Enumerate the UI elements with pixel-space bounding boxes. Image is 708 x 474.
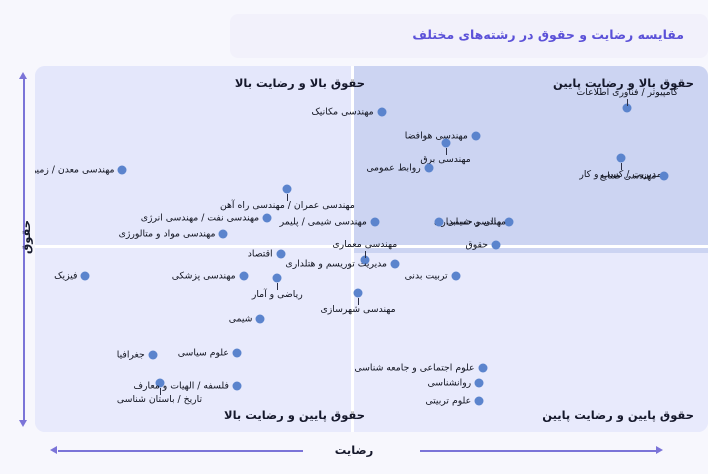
scatter-point[interactable] [391,259,400,268]
x-axis-label: رضایت [0,443,708,457]
quadrant-label-top-right: حقوق بالا و رضایت بالا [235,76,365,92]
scatter-point[interactable] [239,272,248,281]
label-leader-line [365,251,366,258]
chart-root: مقایسه رضایت و حقوق در رشته‌های مختلف حق… [0,0,708,474]
scatter-point[interactable] [492,241,501,250]
scatter-point-label: علوم اجتماعی و جامعه شناسی [354,363,474,372]
scatter-point-label: شیمی [229,314,253,323]
scatter-point-label: مهندسی برق [420,155,470,164]
y-axis-arrow-down-icon [19,420,27,427]
scatter-point-label: مهندسی شهرسازی [321,305,396,314]
scatter-point[interactable] [475,396,484,405]
scatter-point[interactable] [256,314,265,323]
scatter-point-label: روانشناسی [428,378,472,387]
plot-area: حقوق بالا و رضایت پایین حقوق بالا و رضای… [35,66,708,432]
scatter-point-label: کامپیوتر / فناوری اطلاعات [577,88,678,97]
scatter-point-label: مهندسی مکانیک [311,107,373,116]
scatter-point[interactable] [377,107,386,116]
scatter-point[interactable] [276,250,285,259]
scatter-point[interactable] [478,363,487,372]
scatter-point[interactable] [263,213,272,222]
scatter-point-label: مهندسی صنایع [600,171,657,180]
scatter-point[interactable] [434,217,443,226]
page-title: مقایسه رضایت و حقوق در رشته‌های مختلف [412,27,684,42]
scatter-point-label: مهندسی معماری [332,240,397,249]
scatter-point[interactable] [505,217,514,226]
scatter-point-label: علوم تربیتی [425,396,471,405]
scatter-point[interactable] [660,171,669,180]
scatter-point[interactable] [219,230,228,239]
scatter-point-label: مهندسی معدن / زمین شناسی [35,166,114,175]
scatter-point[interactable] [354,288,363,297]
scatter-point-label: تاریخ / باستان شناسی [117,395,202,404]
scatter-point[interactable] [370,217,379,226]
scatter-point-label: مهندسی هوافضا [405,131,468,140]
quadrant-label-bottom-right: حقوق پایین و رضایت بالا [224,408,365,422]
scatter-point[interactable] [148,351,157,360]
scatter-point-label: اقتصاد [248,250,273,259]
scatter-point[interactable] [475,378,484,387]
scatter-point[interactable] [441,138,450,147]
scatter-point-label: حقوق [466,241,488,250]
scatter-point[interactable] [451,272,460,281]
quadrant-label-bottom-left: حقوق پایین و رضایت پایین [542,408,694,422]
scatter-point-label: مهندسی شیمی / پلیمر [280,217,367,226]
scatter-point-label: مهندسی نفت / مهندسی انرژی [141,213,259,222]
scatter-point-label: مهندسی مواد و متالورژی [119,230,216,239]
scatter-point-label: جغرافیا [117,350,145,359]
scatter-point-label: مهندسی پزشکی [172,272,236,281]
scatter-point[interactable] [424,164,433,173]
label-leader-line [627,99,628,106]
y-axis-arrow-up-icon [19,72,27,79]
scatter-point-label: فلسفه / الهیات و معارف [133,382,228,391]
scatter-point-label: ریاضی و آمار [252,290,303,299]
scatter-point[interactable] [273,274,282,283]
scatter-point[interactable] [616,153,625,162]
scatter-point-label: فیزیک [54,272,77,281]
scatter-point[interactable] [232,349,241,358]
scatter-point[interactable] [283,184,292,193]
scatter-point[interactable] [471,131,480,140]
scatter-point-label: مهندسی شیمی [447,217,506,226]
y-axis-label: حقوق [19,207,33,267]
scatter-point-label: مدیریت توریسم و هتلداری [285,259,387,268]
scatter-point[interactable] [232,382,241,391]
scatter-point[interactable] [81,272,90,281]
scatter-point-label: تربیت بدنی [405,272,448,281]
scatter-point-label: مهندسی عمران / مهندسی راه آهن [220,201,355,210]
scatter-point-label: روابط عمومی [366,164,420,173]
scatter-point-label: علوم سیاسی [178,349,229,358]
scatter-point[interactable] [118,166,127,175]
